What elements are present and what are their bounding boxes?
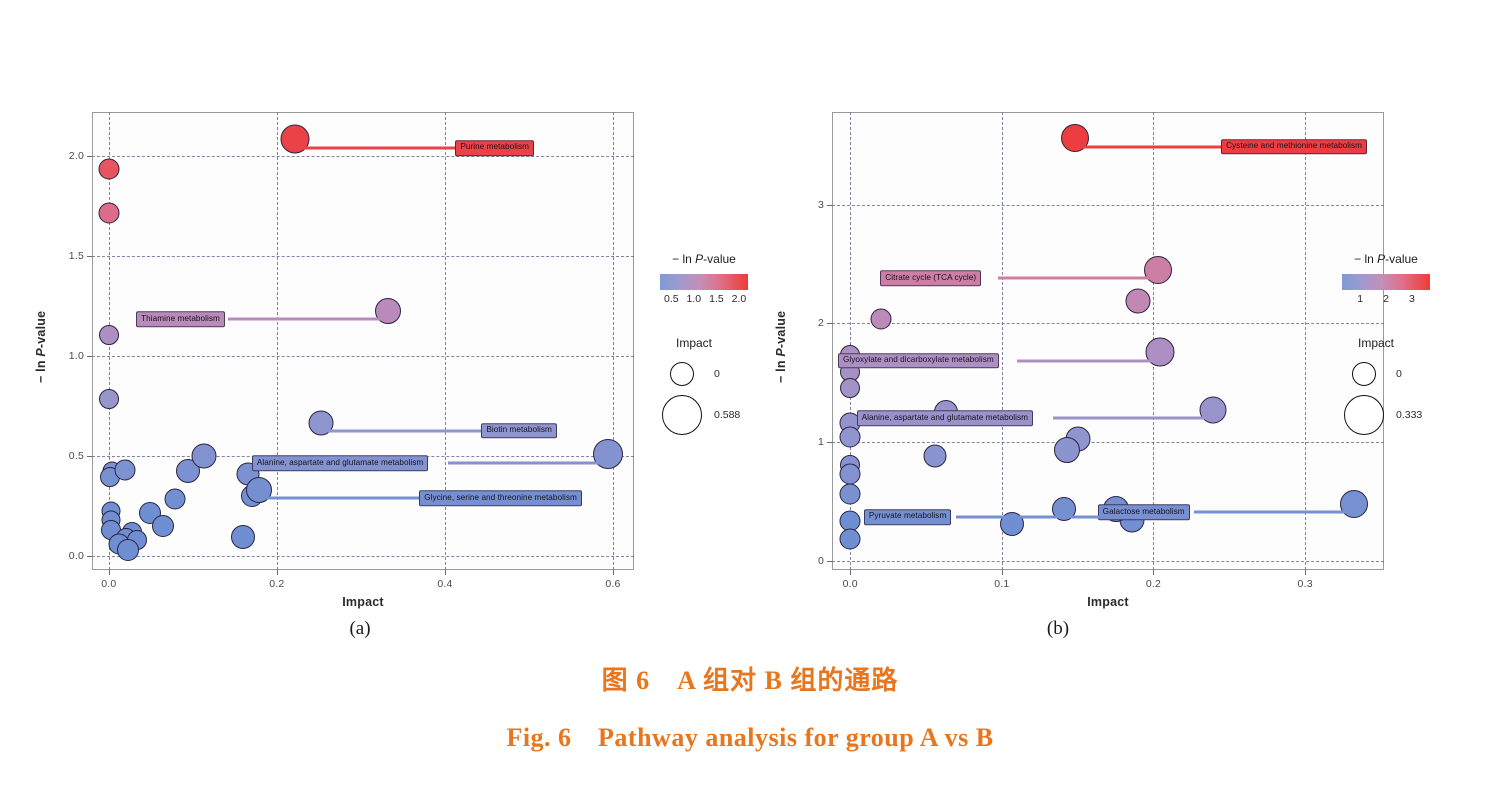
- point-label: Citrate cycle (TCA cycle): [880, 270, 1158, 286]
- data-point: [114, 460, 135, 481]
- data-point: [840, 484, 861, 505]
- x-tick-label: 0.0: [101, 578, 116, 590]
- data-point: [840, 378, 860, 398]
- data-point: [1126, 289, 1151, 314]
- data-point: [99, 389, 119, 409]
- point-label: Glyoxylate and dicarboxylate metabolism: [838, 353, 1160, 369]
- data-point: [98, 203, 119, 224]
- panel-letter-b: (b): [1047, 618, 1069, 640]
- y-tick-label: 0.0: [50, 550, 84, 562]
- data-point: [924, 445, 947, 468]
- colorbar-title: − ln P-value: [672, 252, 736, 266]
- point-label: Thiamine metabolism: [136, 311, 388, 327]
- data-point: [840, 427, 861, 448]
- x-tick-mark: [109, 570, 110, 575]
- size-legend-title: Impact: [1358, 336, 1394, 350]
- point-label: Pyruvate metabolism: [864, 509, 1116, 525]
- caption-english: Fig. 6 Pathway analysis for group A vs B: [0, 717, 1500, 754]
- size-legend-circle: [1344, 395, 1384, 435]
- label-leader-line: [259, 497, 419, 500]
- colorbar-tick-label: 1.5: [709, 293, 724, 305]
- size-legend-circle: [670, 362, 694, 386]
- caption-chinese: 图 6 A 组对 B 组的通路: [0, 660, 1500, 697]
- point-label: Biotin metabolism: [321, 423, 564, 439]
- y-axis-title: − ln P-value: [774, 311, 788, 383]
- label-text: Biotin metabolism: [481, 423, 556, 439]
- y-tick-mark: [827, 205, 832, 206]
- label-text: Cysteine and methionine metabolism: [1221, 139, 1367, 155]
- colorbar-title: − ln P-value: [1354, 252, 1418, 266]
- colorbar: [1342, 274, 1430, 290]
- x-axis-title: Impact: [1087, 595, 1129, 609]
- size-legend-title: Impact: [676, 336, 712, 350]
- label-text: Citrate cycle (TCA cycle): [880, 271, 981, 287]
- x-tick-mark: [613, 570, 614, 575]
- data-point: [840, 529, 861, 550]
- colorbar-tick-label: 1: [1357, 293, 1363, 305]
- y-tick-label: 1.0: [50, 350, 84, 362]
- y-tick-mark: [827, 442, 832, 443]
- label-leader-line: [295, 146, 455, 149]
- label-leader-line: [321, 429, 481, 432]
- y-axis-title: − ln P-value: [34, 311, 48, 383]
- label-text: Alanine, aspartate and glutamate metabol…: [857, 410, 1033, 426]
- x-tick-label: 0.0: [843, 578, 858, 590]
- x-tick-mark: [1305, 570, 1306, 575]
- point-label: Alanine, aspartate and glutamate metabol…: [857, 410, 1213, 426]
- label-text: Alanine, aspartate and glutamate metabol…: [252, 455, 428, 471]
- x-tick-label: 0.2: [1146, 578, 1161, 590]
- y-tick-mark: [87, 456, 92, 457]
- size-legend-label: 0.333: [1396, 409, 1422, 421]
- label-leader-line: [998, 277, 1158, 280]
- colorbar-tick-label: 1.0: [687, 293, 702, 305]
- data-point: [152, 515, 174, 537]
- label-leader-line: [1075, 145, 1221, 148]
- y-tick-mark: [87, 256, 92, 257]
- data-point: [165, 489, 186, 510]
- label-leader-line: [448, 462, 608, 465]
- data-point: [117, 539, 139, 561]
- label-text: Thiamine metabolism: [136, 311, 225, 327]
- y-tick-label: 2: [790, 317, 824, 329]
- data-point: [870, 309, 891, 330]
- y-tick-mark: [87, 356, 92, 357]
- colorbar-tick-label: 0.5: [664, 293, 679, 305]
- y-tick-label: 0: [790, 555, 824, 567]
- y-tick-mark: [87, 156, 92, 157]
- point-label: Alanine, aspartate and glutamate metabol…: [252, 455, 608, 471]
- colorbar-tick-label: 2: [1383, 293, 1389, 305]
- data-point: [191, 444, 216, 469]
- x-tick-mark: [1002, 570, 1003, 575]
- figure-root: 0.00.20.40.60.00.51.01.52.0Impact− ln P-…: [0, 0, 1500, 805]
- y-tick-label: 0.5: [50, 450, 84, 462]
- size-legend-label: 0.588: [714, 409, 740, 421]
- x-tick-label: 0.3: [1298, 578, 1313, 590]
- y-tick-label: 3: [790, 199, 824, 211]
- figure-caption: 图 6 A 组对 B 组的通路 Fig. 6 Pathway analysis …: [0, 660, 1500, 754]
- size-legend-label: 0: [1396, 368, 1402, 380]
- label-text: Glycine, serine and threonine metabolism: [419, 490, 582, 506]
- label-text: Glyoxylate and dicarboxylate metabolism: [838, 353, 999, 369]
- point-label: Cysteine and methionine metabolism: [1075, 139, 1378, 155]
- data-point: [99, 325, 119, 345]
- label-leader-line: [956, 515, 1116, 518]
- y-tick-mark: [827, 323, 832, 324]
- data-point: [98, 159, 119, 180]
- x-tick-label: 0.4: [437, 578, 452, 590]
- label-text: Pyruvate metabolism: [864, 509, 951, 525]
- point-label: Purine metabolism: [295, 140, 538, 156]
- y-tick-mark: [87, 556, 92, 557]
- y-tick-label: 1: [790, 436, 824, 448]
- x-tick-mark: [1153, 570, 1154, 575]
- data-point: [1054, 437, 1080, 463]
- x-tick-label: 0.1: [994, 578, 1009, 590]
- label-text: Purine metabolism: [455, 140, 534, 156]
- y-tick-mark: [827, 561, 832, 562]
- label-leader-line: [1194, 511, 1354, 514]
- y-tick-label: 2.0: [50, 150, 84, 162]
- data-point: [231, 525, 255, 549]
- size-legend-circle: [662, 395, 702, 435]
- colorbar: [660, 274, 748, 290]
- x-tick-label: 0.2: [269, 578, 284, 590]
- label-leader-line: [1017, 359, 1160, 362]
- label-leader-line: [1053, 417, 1213, 420]
- x-tick-mark: [277, 570, 278, 575]
- colorbar-tick-label: 2.0: [732, 293, 747, 305]
- data-point: [840, 464, 861, 485]
- label-leader-line: [228, 318, 388, 321]
- colorbar-tick-label: 3: [1409, 293, 1415, 305]
- size-legend-circle: [1352, 362, 1376, 386]
- x-tick-mark: [850, 570, 851, 575]
- point-label: Galactose metabolism: [1098, 504, 1354, 520]
- x-tick-mark: [445, 570, 446, 575]
- panel-letter-a: (a): [349, 618, 370, 640]
- size-legend-label: 0: [714, 368, 720, 380]
- x-tick-label: 0.6: [605, 578, 620, 590]
- point-label: Glycine, serine and threonine metabolism: [259, 490, 602, 506]
- y-tick-label: 1.5: [50, 250, 84, 262]
- x-axis-title: Impact: [342, 595, 384, 609]
